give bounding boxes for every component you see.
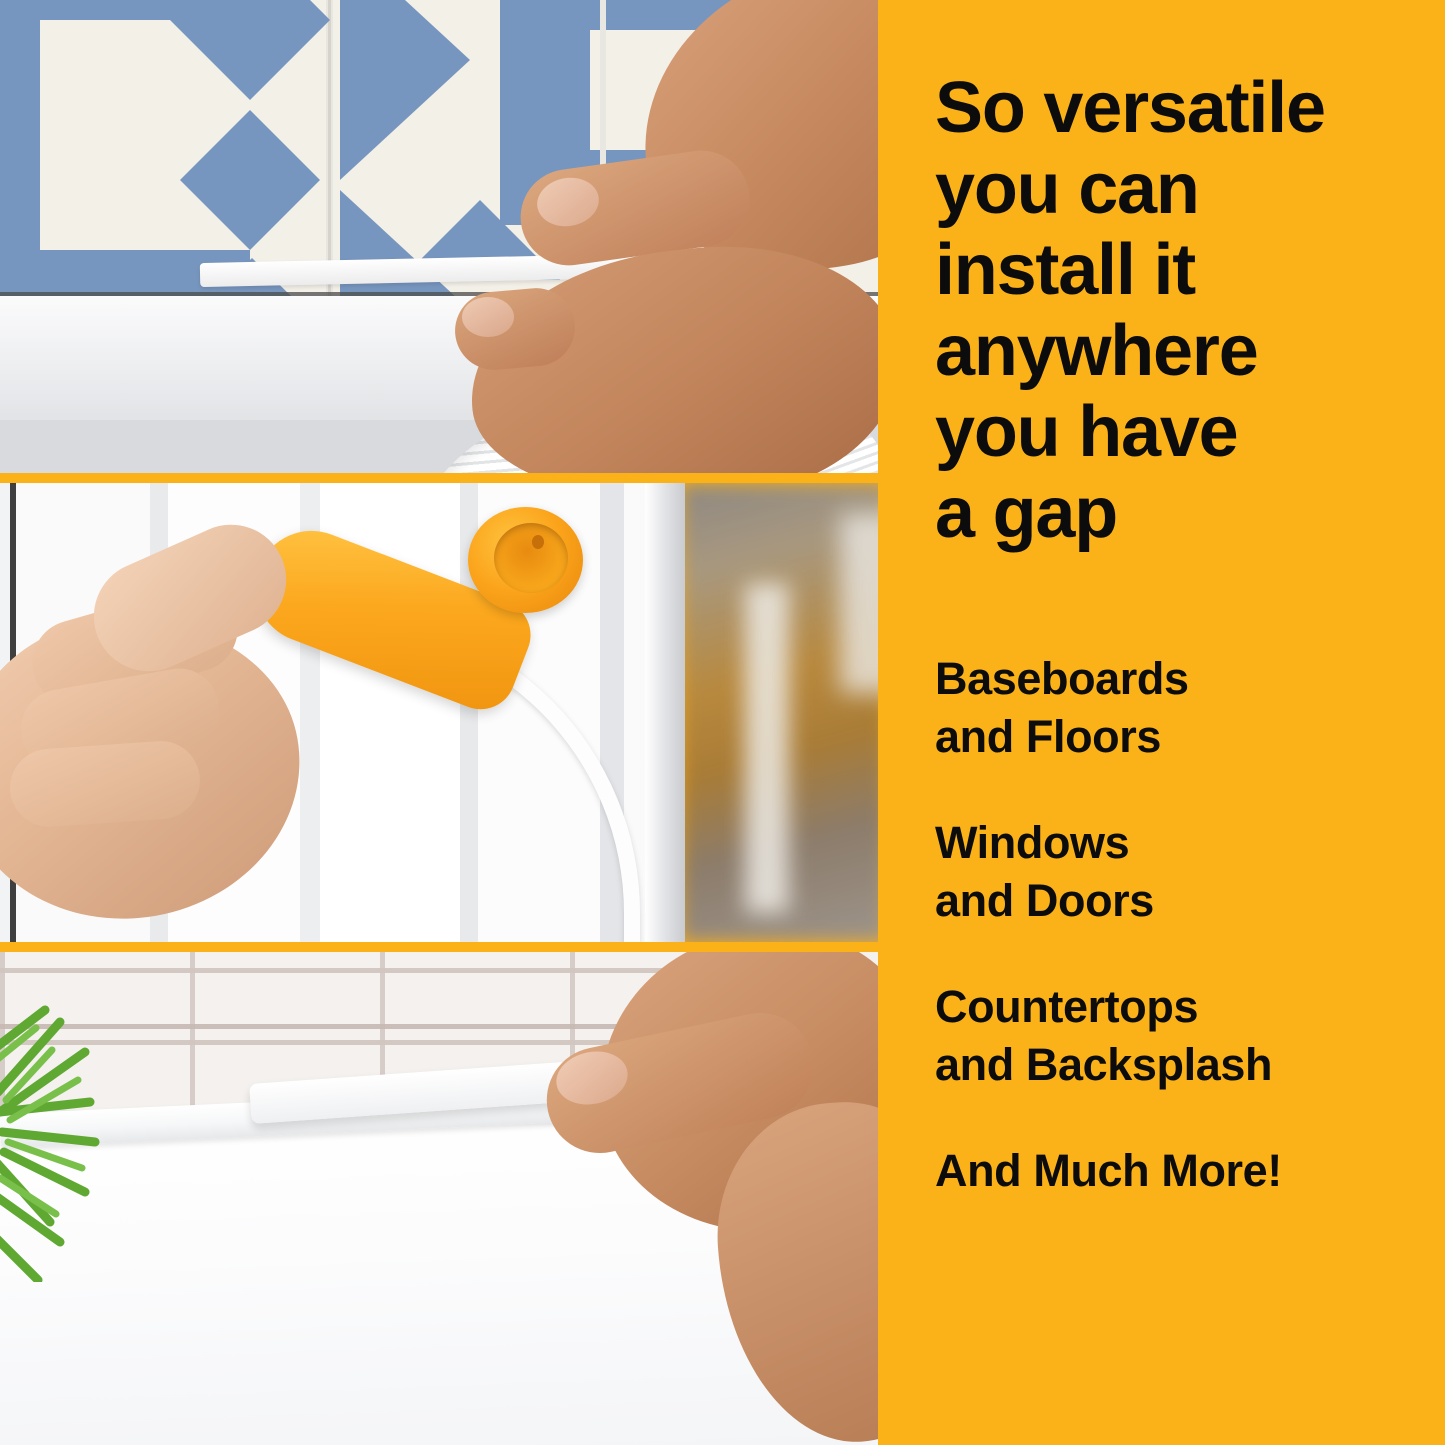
decorative-plant <box>0 992 180 1282</box>
plant-graphic <box>0 992 180 1282</box>
benefit-item-baseboards: Baseboards and Floors <box>935 650 1435 766</box>
text-panel: So versatile you can install it anywhere… <box>888 0 1445 1445</box>
photo-baseboard-tile <box>0 0 888 473</box>
headline: So versatile you can install it anywhere… <box>935 68 1415 554</box>
finger-knuckle-3 <box>8 738 203 829</box>
photo-window-tool <box>0 483 888 942</box>
applicator-tool-roller <box>494 523 568 593</box>
benefit-item-more: And Much More! <box>935 1142 1435 1200</box>
panel-divider-bottom <box>0 942 888 952</box>
applicator-tool-vent <box>532 535 544 549</box>
benefit-item-windows: Windows and Doors <box>935 814 1435 930</box>
blurred-highlight <box>745 583 789 913</box>
photo-column <box>0 0 888 1445</box>
benefit-list: Baseboards and Floors Windows and Doors … <box>935 650 1435 1200</box>
window-jamb <box>645 483 685 942</box>
panel-divider-top <box>0 473 888 483</box>
benefit-item-countertops: Countertops and Backsplash <box>935 978 1435 1094</box>
vertical-gutter <box>878 0 888 1445</box>
fingernail-lower <box>462 297 514 337</box>
product-feature-image: So versatile you can install it anywhere… <box>0 0 1445 1445</box>
photo-countertop-backsplash <box>0 952 888 1445</box>
